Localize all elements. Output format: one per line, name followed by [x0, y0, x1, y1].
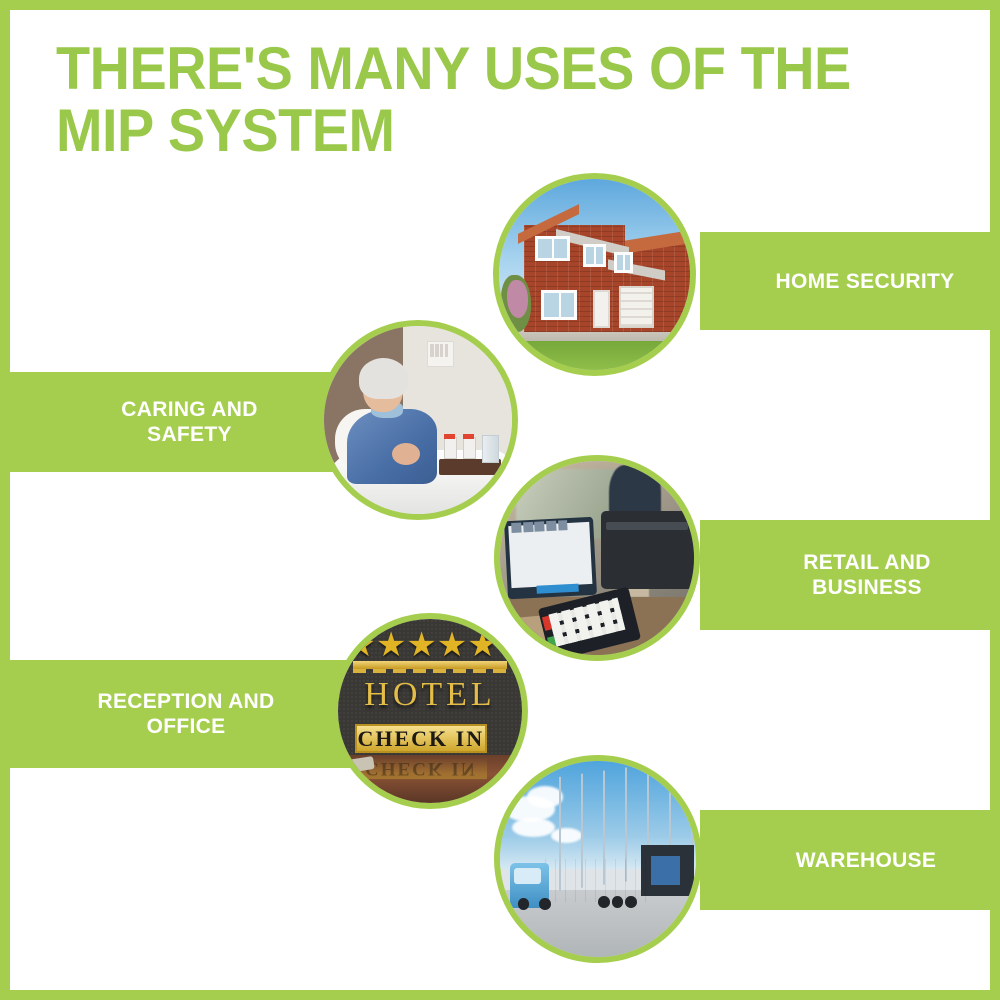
till-tab-5	[557, 520, 567, 531]
label-bar-home-security: HOME SECURITY	[700, 232, 990, 330]
label-bar-warehouse: WAREHOUSE	[700, 810, 990, 910]
label-bar-caring-and-safety: CARING AND SAFETY	[10, 372, 355, 472]
label-warehouse: WAREHOUSE	[764, 848, 936, 873]
lawn	[499, 341, 690, 370]
truck-trailer	[545, 859, 655, 902]
till-tablet	[504, 517, 597, 599]
till-tab-3	[534, 521, 544, 532]
label-retail-and-business: RETAIL AND BUSINESS	[769, 550, 930, 600]
pos-terminal-photo	[500, 461, 694, 655]
label-bar-reception-and-office: RECEPTION AND OFFICE	[10, 660, 350, 768]
wall-switch-plate	[427, 341, 453, 367]
photo-circle-caring-and-safety	[318, 320, 518, 520]
garage-door	[619, 286, 653, 328]
photo-circle-retail-and-business	[494, 455, 700, 661]
pinpad-keys	[548, 597, 625, 647]
check-in-plaque-reflection: CHECK IN	[355, 757, 487, 779]
warehouse-truck-photo	[500, 761, 696, 957]
page-title: THERE'S MANY USES OF THE MIP SYSTEM	[56, 38, 893, 162]
till-action-bar	[536, 584, 579, 594]
gold-trim-bar	[353, 661, 508, 668]
label-bar-retail-and-business: RETAIL AND BUSINESS	[700, 520, 990, 630]
clasped-hands	[392, 443, 420, 466]
hotel-check-in-photo: ★★★★★ HOTEL CHECK IN CHECK IN	[338, 619, 522, 803]
till-tab-4	[546, 520, 556, 531]
pill-bottle-1	[444, 437, 457, 460]
elderly-care-photo	[324, 326, 512, 514]
till-tab-1	[511, 522, 521, 533]
cloud-2	[527, 786, 562, 808]
check-in-plaque: CHECK IN	[355, 724, 487, 753]
window-upper-middle	[583, 244, 606, 267]
wheel-3	[598, 896, 610, 908]
wheel-2	[539, 898, 551, 910]
patient-gown	[347, 409, 437, 484]
till-tab-2	[523, 522, 533, 533]
window-upper-left	[535, 236, 569, 261]
star-icon-1: ★★★★★	[345, 628, 376, 659]
photo-circle-reception-and-office: ★★★★★ HOTEL CHECK IN CHECK IN	[332, 613, 528, 809]
label-home-security: HOME SECURITY	[746, 269, 955, 294]
photo-circle-warehouse	[494, 755, 702, 963]
front-door	[593, 290, 610, 328]
house-photo	[499, 179, 690, 370]
water-glass	[482, 435, 499, 463]
infographic-canvas: THERE'S MANY USES OF THE MIP SYSTEM HOME…	[10, 10, 990, 990]
cab-windscreen	[514, 868, 541, 883]
label-reception-and-office: RECEPTION AND OFFICE	[76, 689, 275, 739]
window-upper-right	[614, 252, 633, 273]
photo-circle-home-security	[493, 173, 696, 376]
pill-bottle-2	[463, 437, 476, 460]
label-caring-and-safety: CARING AND SAFETY	[97, 397, 257, 447]
window-lower-left	[541, 290, 577, 321]
white-hair	[359, 358, 408, 399]
hotel-sign-text: HOTEL	[338, 676, 522, 714]
receipt-printer	[601, 511, 694, 589]
